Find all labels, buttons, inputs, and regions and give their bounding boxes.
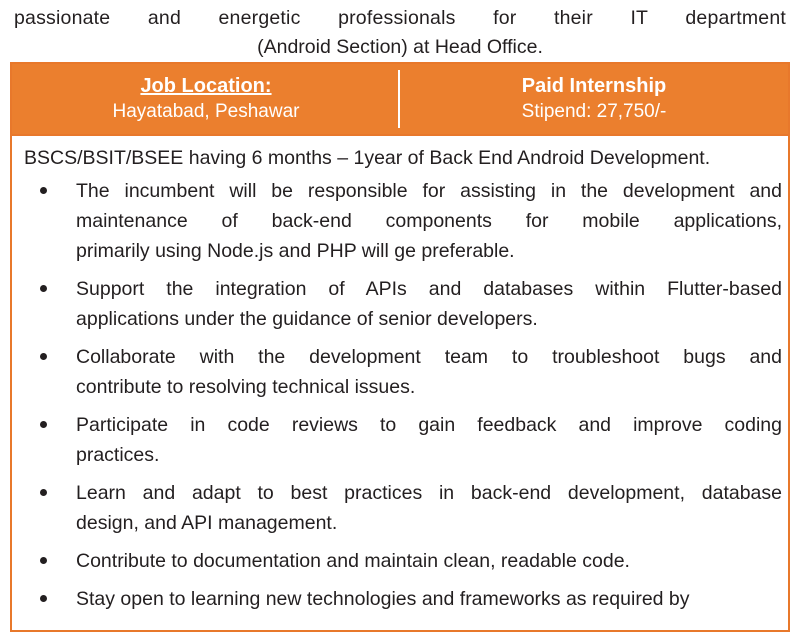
job-body: BSCS/BSIT/BSEE having 6 months – 1year o… — [12, 136, 788, 630]
responsibility-line: design, and API management. — [76, 508, 782, 538]
responsibility-line: maintenance of back-end components for m… — [76, 206, 782, 236]
responsibility-line: practices. — [76, 440, 782, 470]
bullet-dot-icon — [40, 353, 47, 360]
bullet-dot-icon — [40, 285, 47, 292]
responsibility-line: Support the integration of APIs and data… — [76, 274, 782, 304]
bullet-dot-icon — [40, 489, 47, 496]
bullet-dot-icon — [40, 557, 47, 564]
responsibility-line: Participate in code reviews to gain feed… — [76, 410, 782, 440]
responsibility-line: contribute to resolving technical issues… — [76, 372, 782, 402]
list-item: Learn and adapt to best practices in bac… — [18, 478, 782, 538]
bullet-dot-icon — [40, 595, 47, 602]
list-item: Contribute to documentation and maintain… — [18, 546, 782, 576]
paid-internship-cell: Paid Internship Stipend: 27,750/- — [400, 64, 788, 134]
job-location-title: Job Location: — [140, 73, 271, 99]
stipend-value: Stipend: 27,750/- — [522, 99, 667, 125]
job-advertisement-page: passionate and energetic professionals f… — [0, 0, 800, 600]
responsibility-line: primarily using Node.js and PHP will ge … — [76, 236, 782, 266]
list-item: Collaborate with the development team to… — [18, 342, 782, 402]
list-item: Stay open to learning new technologies a… — [18, 584, 782, 614]
bullet-dot-icon — [40, 421, 47, 428]
intro-line-2: (Android Section) at Head Office. — [14, 32, 786, 62]
intro-paragraph: passionate and energetic professionals f… — [0, 0, 800, 62]
job-location-value: Hayatabad, Peshawar — [113, 99, 300, 125]
bullet-dot-icon — [40, 187, 47, 194]
responsibility-line: applications under the guidance of senio… — [76, 304, 782, 334]
job-details-frame: Job Location: Hayatabad, Peshawar Paid I… — [10, 62, 790, 632]
list-item: The incumbent will be responsible for as… — [18, 176, 782, 266]
list-item: Participate in code reviews to gain feed… — [18, 410, 782, 470]
qualification-text: BSCS/BSIT/BSEE having 6 months – 1year o… — [18, 142, 782, 172]
job-info-header: Job Location: Hayatabad, Peshawar Paid I… — [12, 64, 788, 136]
paid-internship-title: Paid Internship — [522, 73, 666, 99]
job-location-cell: Job Location: Hayatabad, Peshawar — [12, 64, 400, 134]
responsibilities-list: The incumbent will be responsible for as… — [18, 176, 782, 614]
list-item: Support the integration of APIs and data… — [18, 274, 782, 334]
responsibility-line: Collaborate with the development team to… — [76, 342, 782, 372]
responsibility-line: Learn and adapt to best practices in bac… — [76, 478, 782, 508]
intro-line-1: passionate and energetic professionals f… — [14, 0, 786, 33]
responsibility-line: Stay open to learning new technologies a… — [76, 584, 782, 614]
responsibility-line: Contribute to documentation and maintain… — [76, 546, 782, 576]
responsibility-line: The incumbent will be responsible for as… — [76, 176, 782, 206]
